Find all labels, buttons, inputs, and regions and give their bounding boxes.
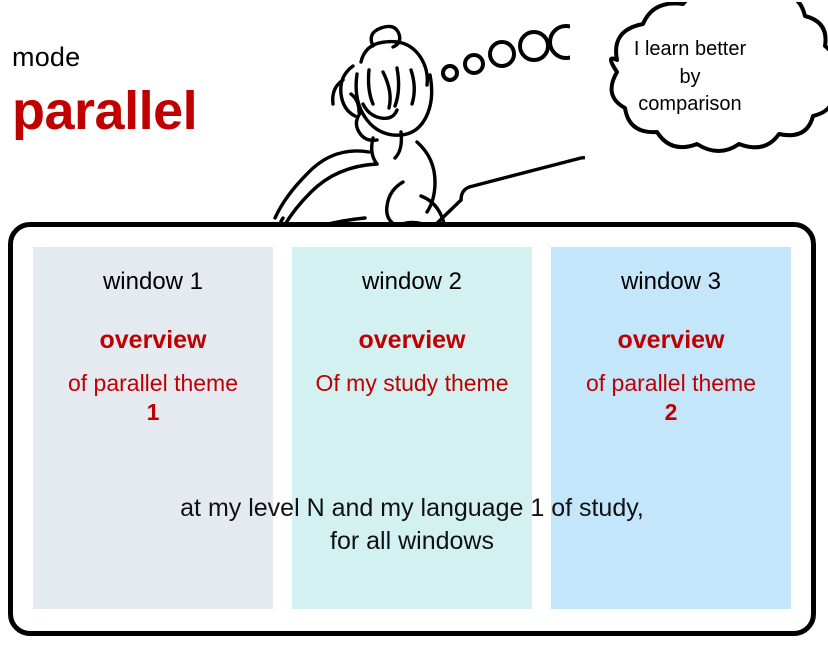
window-panel-1[interactable]: window 1 overview of parallel theme 1 [33,247,273,609]
thought-trail-bubbles-icon [440,24,570,84]
thought-line-3: comparison [638,93,741,115]
window-1-overview: overview [33,325,273,355]
window-3-number: 2 [557,398,785,427]
window-3-desc-text: of parallel theme [586,370,756,396]
window-3-overview: overview [551,325,791,355]
thought-line-1: I learn better [634,38,746,60]
window-1-title: window 1 [33,268,273,297]
window-panel-2[interactable]: window 2 overview Of my study theme [292,247,532,609]
windows-frame: window 1 overview of parallel theme 1 wi… [8,222,816,636]
thought-bubble: I learn better by comparison [555,2,828,177]
window-3-description: of parallel theme 2 [551,369,791,428]
window-2-title: window 2 [292,268,532,297]
window-2-description: Of my study theme [292,369,532,398]
thought-bubble-text: I learn better by comparison [595,36,785,119]
mode-label: mode [12,44,80,71]
mode-value: parallel [12,84,197,138]
window-2-overview: overview [292,325,532,355]
thought-line-2: by [679,66,700,88]
windows-panel-row: window 1 overview of parallel theme 1 wi… [33,247,791,609]
window-2-desc-text: Of my study theme [315,370,508,396]
header: mode parallel [0,0,270,200]
window-panel-3[interactable]: window 3 overview of parallel theme 2 [551,247,791,609]
window-3-title: window 3 [551,268,791,297]
window-1-number: 1 [39,398,267,427]
window-1-desc-text: of parallel theme [68,370,238,396]
window-1-description: of parallel theme 1 [33,369,273,428]
